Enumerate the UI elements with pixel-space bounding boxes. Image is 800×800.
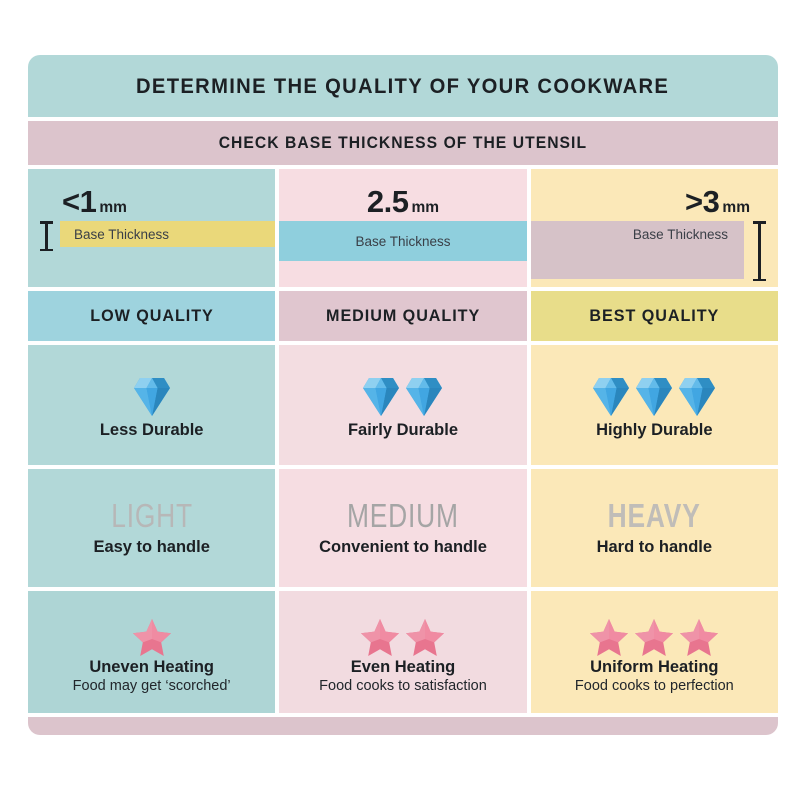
diamond-icon	[678, 375, 716, 417]
heating-cell-best: Uniform Heating Food cooks to perfection	[531, 591, 778, 713]
base-thickness-bar-label-best: Base Thickness	[633, 227, 728, 242]
thickness-cell-medium: 2.5 mm Base Thickness	[279, 169, 526, 287]
quality-label-best: BEST QUALITY	[589, 306, 719, 326]
durability-cell-best: Highly Durable	[531, 345, 778, 465]
base-thickness-bar-best: Base Thickness	[531, 221, 744, 279]
footer-bar	[28, 717, 778, 735]
i-beam-measure-icon	[753, 221, 766, 281]
thickness-label-low: <1 mm	[28, 169, 275, 221]
weight-word-low: LIGHT	[111, 499, 193, 532]
weight-word-best: HEAVY	[608, 499, 701, 532]
weight-cell-best: HEAVY Hard to handle	[531, 469, 778, 587]
quality-cell-low: LOW QUALITY	[28, 291, 275, 341]
star-icon	[589, 617, 629, 657]
heating-sub-medium: Food cooks to satisfaction	[319, 678, 487, 694]
diamond-icon	[362, 375, 400, 417]
thickness-value-medium: 2.5	[367, 186, 409, 217]
thickness-unit-best: mm	[722, 200, 750, 218]
thickness-bar-area-low: Base Thickness	[28, 221, 275, 287]
star-group-low	[132, 611, 172, 657]
heating-cell-medium: Even Heating Food cooks to satisfaction	[279, 591, 526, 713]
weight-cell-low: LIGHT Easy to handle	[28, 469, 275, 587]
heating-caption-low: Uneven Heating	[89, 658, 214, 677]
base-thickness-bar-medium: Base Thickness	[279, 221, 526, 261]
star-group-medium	[360, 611, 445, 657]
thickness-cell-best: >3 mm Base Thickness	[531, 169, 778, 287]
durability-caption-best: Highly Durable	[596, 421, 712, 440]
diamond-icon	[133, 375, 171, 417]
weight-caption-medium: Convenient to handle	[319, 538, 487, 557]
base-thickness-bar-low: Base Thickness	[60, 221, 275, 247]
star-icon	[679, 617, 719, 657]
thickness-label-medium: 2.5 mm	[279, 169, 526, 221]
thickness-value-best: >3	[685, 186, 719, 217]
star-icon	[132, 617, 172, 657]
durability-row: Less Durable Fairly Durable	[28, 345, 778, 465]
diamond-icon	[592, 375, 630, 417]
i-beam-cap-bottom	[40, 249, 53, 252]
diamond-group-best	[592, 371, 716, 417]
thickness-label-best: >3 mm	[531, 169, 778, 221]
weight-caption-best: Hard to handle	[597, 538, 713, 557]
heating-sub-low: Food may get ‘scorched’	[73, 678, 231, 694]
heating-row: Uneven Heating Food may get ‘scorched’ E…	[28, 591, 778, 713]
base-thickness-bar-label-medium: Base Thickness	[355, 234, 450, 249]
subtitle-bar: CHECK BASE THICKNESS OF THE UTENSIL	[28, 121, 778, 165]
thickness-value-low: <1	[62, 186, 96, 217]
i-beam-stem	[758, 224, 761, 279]
weight-row: LIGHT Easy to handle MEDIUM Convenient t…	[28, 469, 778, 587]
base-thickness-bar-label-low: Base Thickness	[74, 227, 169, 242]
thickness-unit-low: mm	[99, 200, 127, 218]
quality-label-low: LOW QUALITY	[90, 306, 213, 326]
thickness-bar-area-medium: Base Thickness	[279, 221, 526, 287]
heating-cell-low: Uneven Heating Food may get ‘scorched’	[28, 591, 275, 713]
i-beam-measure-icon	[40, 221, 53, 251]
thickness-row: <1 mm Base Thickness 2.5 mm	[28, 169, 778, 287]
weight-caption-low: Easy to handle	[93, 538, 209, 557]
page-title: DETERMINE THE QUALITY OF YOUR COOKWARE	[136, 74, 669, 99]
star-group-best	[589, 611, 719, 657]
diamond-group-low	[133, 371, 171, 417]
quality-label-medium: MEDIUM QUALITY	[326, 306, 480, 326]
i-beam-cap-bottom	[753, 279, 766, 282]
heating-caption-medium: Even Heating	[351, 658, 456, 677]
quality-cell-best: BEST QUALITY	[531, 291, 778, 341]
star-icon	[634, 617, 674, 657]
durability-cell-low: Less Durable	[28, 345, 275, 465]
heating-sub-best: Food cooks to perfection	[575, 678, 734, 694]
quality-cell-medium: MEDIUM QUALITY	[279, 291, 526, 341]
page-subtitle: CHECK BASE THICKNESS OF THE UTENSIL	[219, 134, 587, 153]
thickness-bar-area-best: Base Thickness	[531, 221, 778, 287]
star-icon	[360, 617, 400, 657]
heating-caption-best: Uniform Heating	[590, 658, 718, 677]
star-icon	[405, 617, 445, 657]
quality-row: LOW QUALITY MEDIUM QUALITY BEST QUALITY	[28, 291, 778, 341]
durability-cell-medium: Fairly Durable	[279, 345, 526, 465]
i-beam-stem	[45, 224, 48, 249]
main-title-bar: DETERMINE THE QUALITY OF YOUR COOKWARE	[28, 55, 778, 117]
thickness-cell-low: <1 mm Base Thickness	[28, 169, 275, 287]
durability-caption-medium: Fairly Durable	[348, 421, 458, 440]
weight-cell-medium: MEDIUM Convenient to handle	[279, 469, 526, 587]
diamond-icon	[405, 375, 443, 417]
diamond-icon	[635, 375, 673, 417]
cookware-quality-infographic: DETERMINE THE QUALITY OF YOUR COOKWARE C…	[28, 55, 778, 735]
durability-caption-low: Less Durable	[100, 421, 204, 440]
thickness-unit-medium: mm	[412, 200, 440, 218]
diamond-group-medium	[362, 371, 443, 417]
weight-word-medium: MEDIUM	[347, 499, 459, 532]
